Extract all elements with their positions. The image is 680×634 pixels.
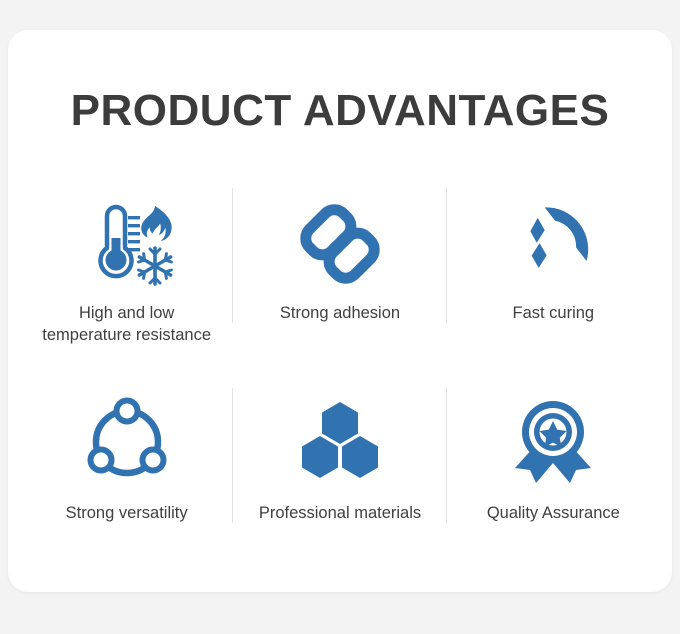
product-advantages-card: PRODUCT ADVANTAGES bbox=[8, 30, 672, 592]
advantage-label: Professional materials bbox=[259, 502, 421, 524]
advantage-item-strong-versatility[interactable]: Strong versatility bbox=[20, 378, 233, 578]
advantage-item-professional-materials[interactable]: Professional materials bbox=[233, 378, 446, 578]
advantages-row-top: High and low temperature resistance Stro… bbox=[20, 178, 660, 378]
page-root: PRODUCT ADVANTAGES bbox=[0, 0, 680, 634]
advantage-item-fast-curing[interactable]: Fast curing bbox=[447, 178, 660, 378]
advantage-item-quality-assurance[interactable]: Quality Assurance bbox=[447, 378, 660, 578]
advantage-item-strong-adhesion[interactable]: Strong adhesion bbox=[233, 178, 446, 378]
advantage-label: High and low temperature resistance bbox=[42, 302, 211, 347]
page-title: PRODUCT ADVANTAGES bbox=[8, 86, 672, 136]
advantage-label: Strong adhesion bbox=[280, 302, 400, 324]
advantages-row-bottom: Strong versatility Professional material… bbox=[20, 378, 660, 578]
advantage-item-temperature-resistance[interactable]: High and low temperature resistance bbox=[20, 178, 233, 378]
speed-motion-arc-icon bbox=[505, 196, 601, 292]
advantage-label: Strong versatility bbox=[66, 502, 188, 524]
advantage-label: Quality Assurance bbox=[487, 502, 620, 524]
hexagons-icon bbox=[292, 392, 388, 488]
advantage-label: Fast curing bbox=[513, 302, 595, 324]
chain-link-icon bbox=[292, 196, 388, 292]
award-medal-star-icon bbox=[505, 392, 601, 488]
molecule-circle-nodes-icon bbox=[79, 392, 175, 488]
advantages-grid: High and low temperature resistance Stro… bbox=[20, 178, 660, 578]
thermometer-flame-snowflake-icon bbox=[79, 196, 175, 292]
